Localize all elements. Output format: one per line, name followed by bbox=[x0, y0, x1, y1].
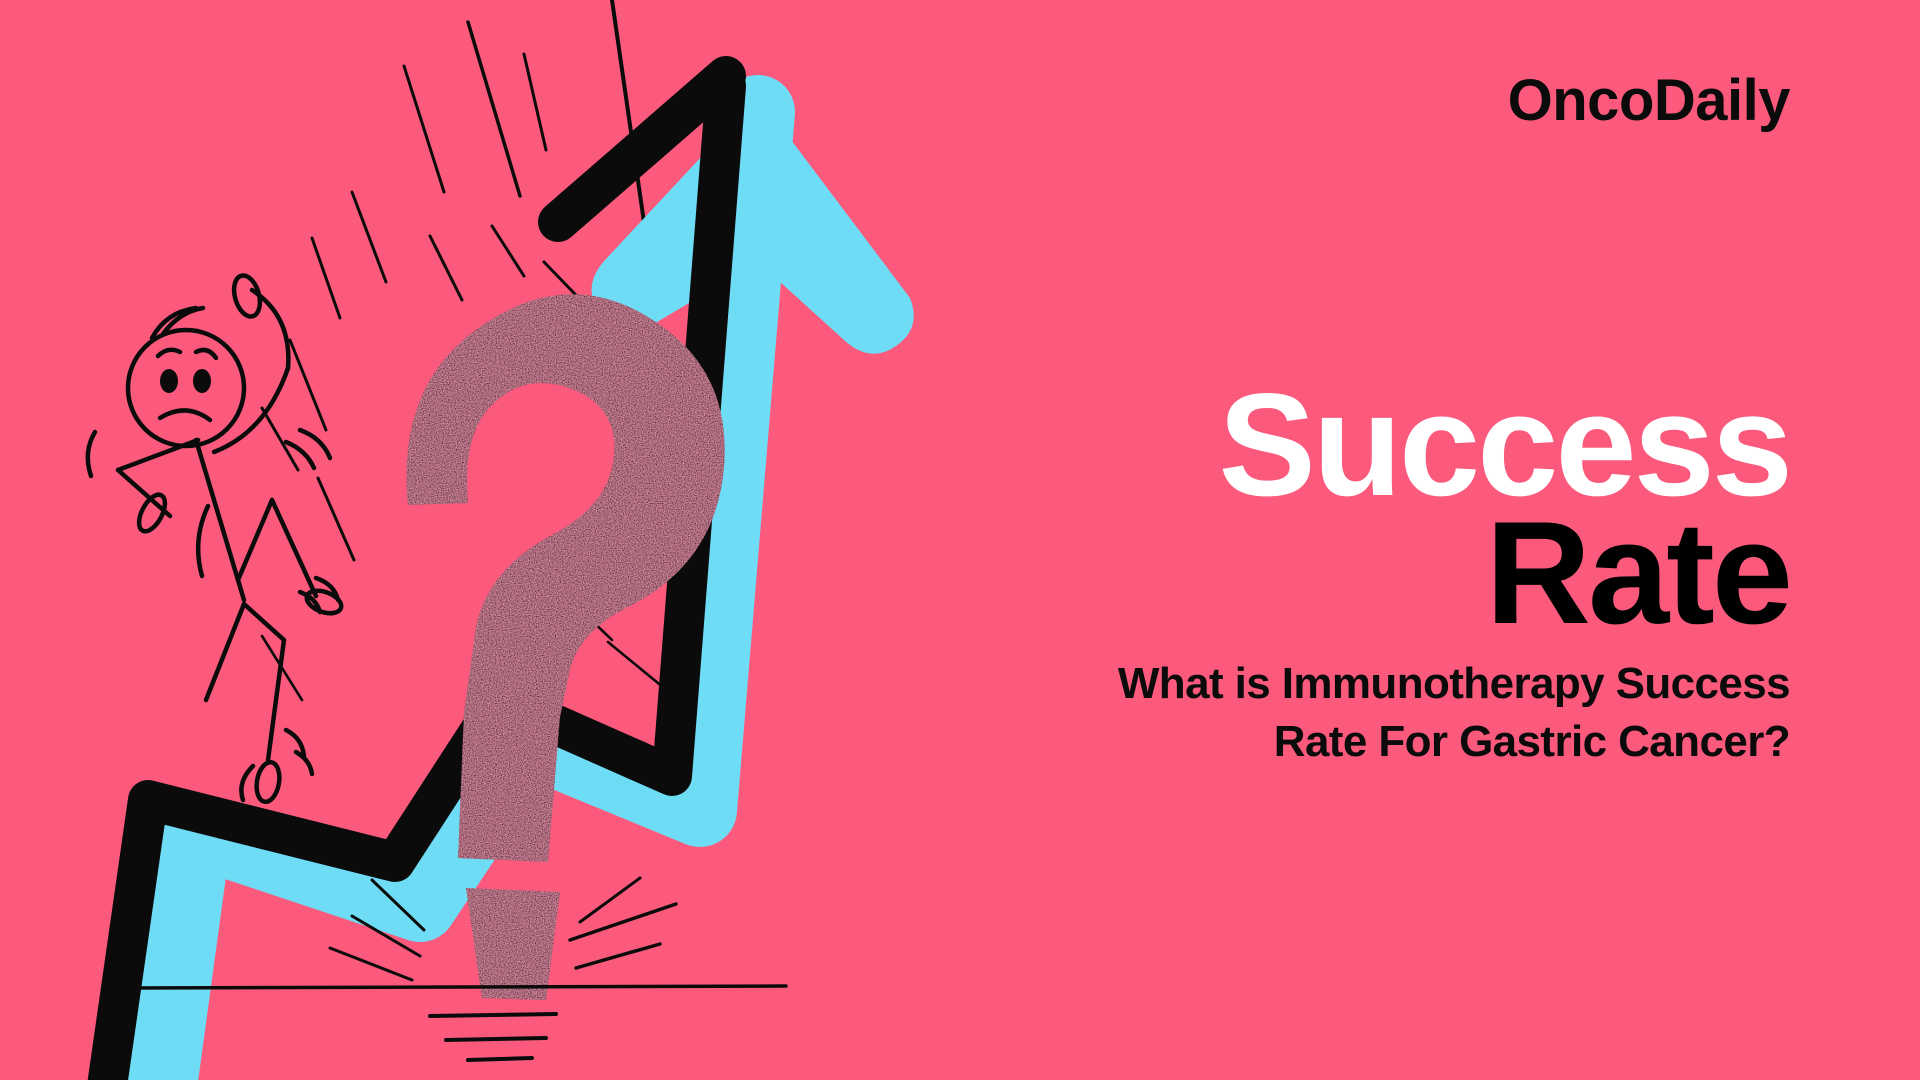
text-column: OncoDaily Success Rate What is Immunothe… bbox=[930, 0, 1790, 1080]
poster-canvas: OncoDaily Success Rate What is Immunothe… bbox=[0, 0, 1920, 1080]
subheadline-line-1: What is Immunotherapy Success bbox=[1118, 659, 1790, 708]
subheadline-line-2-prefix: Rate For bbox=[1274, 717, 1459, 766]
subheadline: What is Immunotherapy Success Rate For G… bbox=[930, 655, 1790, 771]
headline-line-2: Rate bbox=[1486, 500, 1790, 646]
brand-logo: OncoDaily bbox=[1508, 72, 1790, 130]
subheadline-line-2-emphasis: Gastric Cancer? bbox=[1459, 717, 1790, 766]
